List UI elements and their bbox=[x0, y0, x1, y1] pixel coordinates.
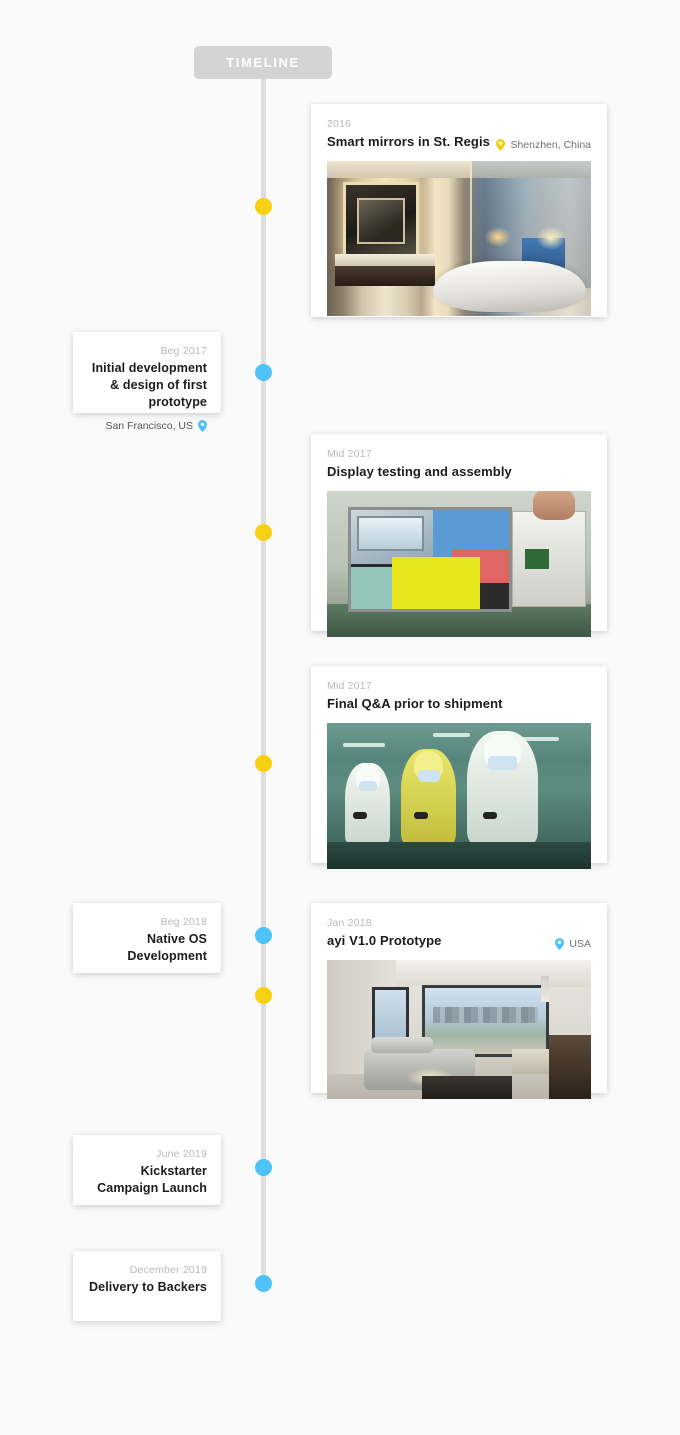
card-header: Mid 2017 Display testing and assembly bbox=[311, 434, 607, 491]
card-date: June 2019 bbox=[85, 1148, 207, 1160]
timeline-card-display-testing[interactable]: Mid 2017 Display testing and assembly bbox=[311, 434, 607, 631]
timeline-dot-1[interactable] bbox=[255, 198, 272, 215]
timeline-dot-7[interactable] bbox=[255, 1159, 272, 1176]
timeline-axis-line bbox=[261, 62, 266, 1288]
card-date: Mid 2017 bbox=[327, 680, 591, 692]
map-pin-icon bbox=[198, 420, 207, 432]
card-date: Jan 2018 bbox=[327, 917, 591, 929]
card-header: Jan 2018 ayi V1.0 Prototype USA bbox=[311, 903, 607, 960]
card-date: Beg 2018 bbox=[85, 916, 207, 928]
timeline-card-smart-mirrors[interactable]: 2016 Smart mirrors in St. Regis Shenzhen… bbox=[311, 104, 607, 317]
card-photo bbox=[327, 491, 591, 637]
card-photo bbox=[327, 723, 591, 869]
card-date: Mid 2017 bbox=[327, 448, 591, 460]
card-location-label: USA bbox=[569, 938, 591, 950]
card-title: ayi V1.0 Prototype bbox=[327, 932, 591, 950]
card-header: June 2019 Kickstarter Campaign Launch bbox=[73, 1135, 221, 1211]
timeline-dot-4[interactable] bbox=[255, 755, 272, 772]
timeline-card-native-os[interactable]: Beg 2018 Native OS Development bbox=[73, 903, 221, 973]
card-title: Delivery to Backers bbox=[85, 1279, 207, 1296]
card-header: 2016 Smart mirrors in St. Regis Shenzhen… bbox=[311, 104, 607, 161]
timeline-card-ayi-prototype[interactable]: Jan 2018 ayi V1.0 Prototype USA bbox=[311, 903, 607, 1093]
card-title: Display testing and assembly bbox=[327, 463, 591, 481]
card-date: Beg 2017 bbox=[85, 345, 207, 357]
card-date: 2016 bbox=[327, 118, 591, 130]
timeline-card-kickstarter[interactable]: June 2019 Kickstarter Campaign Launch bbox=[73, 1135, 221, 1205]
timeline-dot-2[interactable] bbox=[255, 364, 272, 381]
map-pin-icon bbox=[555, 938, 564, 950]
card-location-label: Shenzhen, China bbox=[510, 139, 591, 151]
card-location-label: San Francisco, US bbox=[105, 420, 193, 432]
timeline-card-delivery[interactable]: December 2019 Delivery to Backers bbox=[73, 1251, 221, 1321]
timeline-dot-6[interactable] bbox=[255, 987, 272, 1004]
card-header: December 2019 Delivery to Backers bbox=[73, 1251, 221, 1310]
card-date: December 2019 bbox=[85, 1264, 207, 1276]
card-location: Shenzhen, China bbox=[496, 139, 591, 151]
card-title: Kickstarter Campaign Launch bbox=[85, 1163, 207, 1197]
card-photo bbox=[327, 960, 591, 1099]
card-title: Initial development & design of first pr… bbox=[85, 360, 207, 411]
card-header: Beg 2018 Native OS Development bbox=[73, 903, 221, 979]
card-title: Final Q&A prior to shipment bbox=[327, 695, 591, 713]
card-header: Beg 2017 Initial development & design of… bbox=[73, 332, 221, 446]
card-location: USA bbox=[555, 938, 591, 950]
card-header: Mid 2017 Final Q&A prior to shipment bbox=[311, 666, 607, 723]
timeline-card-final-qa[interactable]: Mid 2017 Final Q&A prior to shipment bbox=[311, 666, 607, 863]
map-pin-icon bbox=[496, 139, 505, 151]
card-photo bbox=[327, 161, 591, 316]
timeline-card-initial-development[interactable]: Beg 2017 Initial development & design of… bbox=[73, 332, 221, 413]
timeline-header-chip: TIMELINE bbox=[194, 46, 332, 79]
timeline-dot-5[interactable] bbox=[255, 927, 272, 944]
card-location: San Francisco, US bbox=[85, 420, 207, 432]
timeline-dot-3[interactable] bbox=[255, 524, 272, 541]
timeline-dot-8[interactable] bbox=[255, 1275, 272, 1292]
card-title: Native OS Development bbox=[85, 931, 207, 965]
timeline-header-label: TIMELINE bbox=[226, 55, 299, 70]
